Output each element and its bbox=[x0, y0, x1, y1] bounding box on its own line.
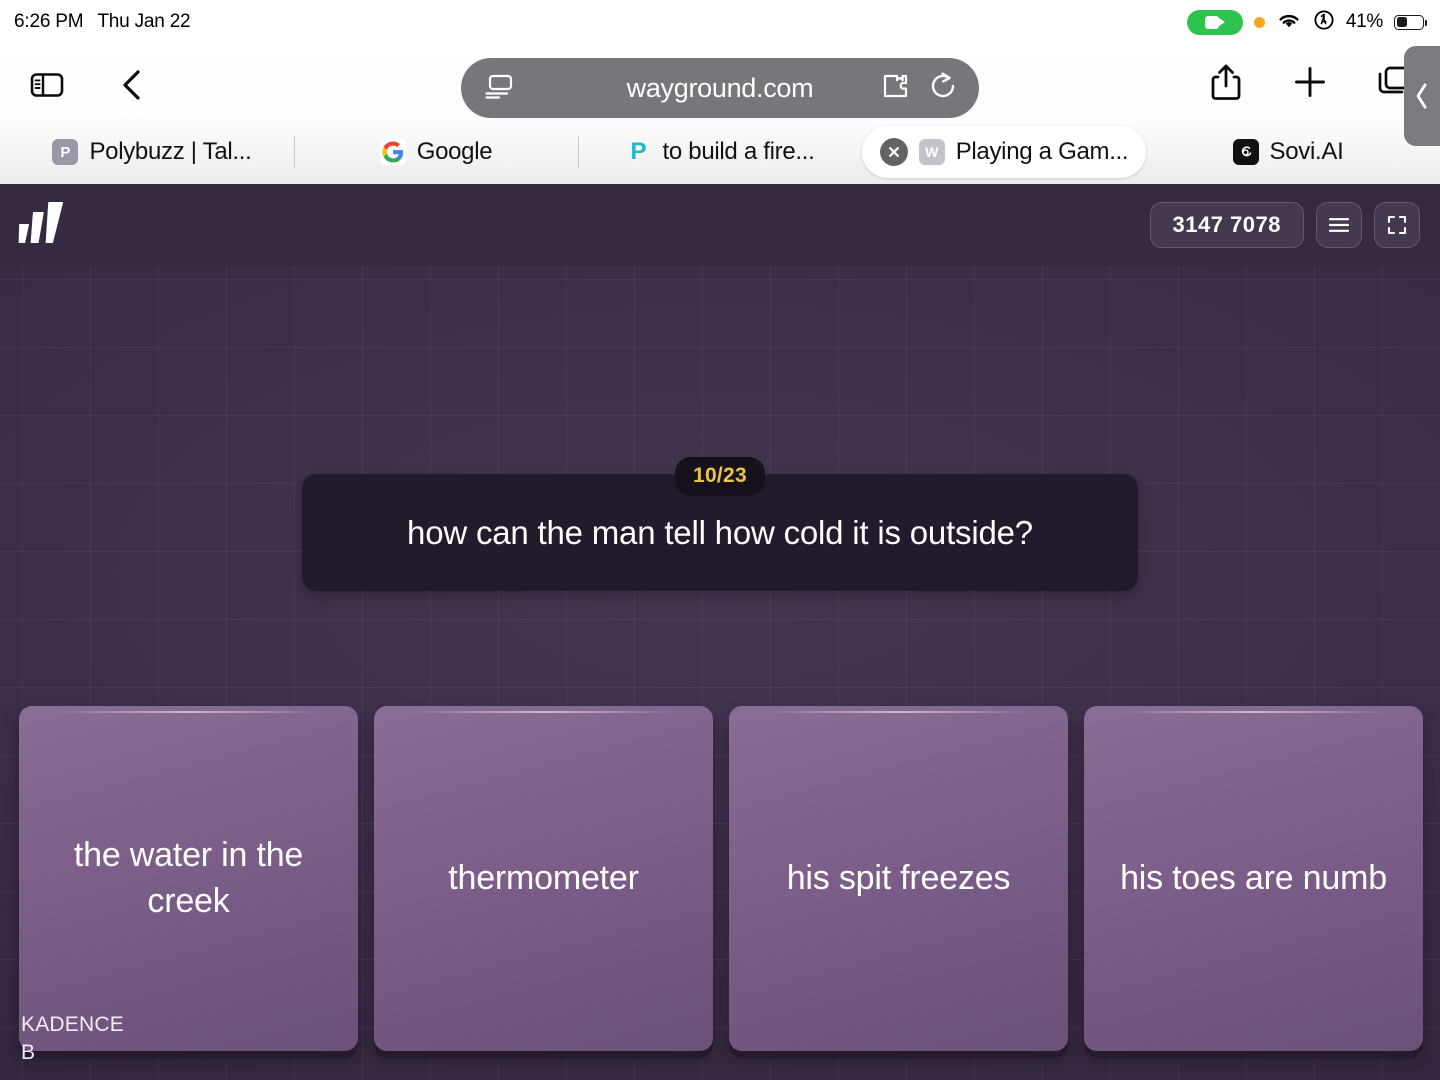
close-tab-button[interactable] bbox=[880, 138, 908, 166]
answer-option-3[interactable]: his spit freezes bbox=[729, 706, 1068, 1051]
menu-button[interactable] bbox=[1316, 202, 1362, 248]
reload-icon[interactable] bbox=[929, 71, 957, 106]
status-time: 6:26 PM bbox=[14, 11, 83, 33]
player-name-line-1: KADENCE bbox=[21, 1011, 124, 1038]
status-bar-right: 41% bbox=[1187, 9, 1424, 36]
browser-tab-sovi-ai[interactable]: Sovi.AI bbox=[1146, 126, 1430, 178]
browser-tab-playing-a-game[interactable]: W Playing a Gam... bbox=[862, 126, 1146, 178]
tab-title: Playing a Gam... bbox=[956, 138, 1129, 166]
answer-option-4[interactable]: his toes are numb bbox=[1084, 706, 1423, 1051]
fullscreen-button[interactable] bbox=[1374, 202, 1420, 248]
app-header: 3147 7078 bbox=[0, 184, 1440, 266]
sidebar-toggle-icon bbox=[30, 71, 64, 104]
game-code-pill[interactable]: 3147 7078 bbox=[1150, 202, 1305, 248]
toolbar-right-actions bbox=[1198, 56, 1422, 112]
fullscreen-icon bbox=[1387, 215, 1407, 235]
browser-toolbar: wayground.com bbox=[0, 44, 1440, 120]
sidebar-toggle-button[interactable] bbox=[16, 56, 78, 118]
tab-bar: P Polybuzz | Tal... Google P to build a … bbox=[0, 120, 1440, 184]
share-button[interactable] bbox=[1198, 56, 1254, 112]
wayground-app: 3147 7078 10/23 how can the bbox=[0, 184, 1440, 1080]
answer-options: the water in the creek thermometer his s… bbox=[19, 706, 1440, 1056]
game-board: 10/23 how can the man tell how cold it i… bbox=[0, 266, 1440, 1080]
answer-option-1[interactable]: the water in the creek bbox=[19, 706, 358, 1051]
app-header-actions: 3147 7078 bbox=[1150, 202, 1421, 248]
answer-label: the water in the creek bbox=[41, 833, 336, 923]
question-text: how can the man tell how cold it is outs… bbox=[407, 514, 1033, 552]
wayground-logo-icon[interactable] bbox=[18, 207, 60, 243]
browser-chrome: wayground.com bbox=[0, 44, 1440, 184]
screen: 6:26 PM Thu Jan 22 bbox=[0, 0, 1440, 1080]
extensions-puzzle-icon[interactable] bbox=[881, 72, 911, 105]
rotation-lock-icon bbox=[1313, 9, 1335, 36]
player-name-line-2: B bbox=[21, 1039, 124, 1066]
question-counter-badge: 10/23 bbox=[675, 457, 765, 496]
battery-icon bbox=[1394, 15, 1424, 30]
orange-privacy-dot-icon bbox=[1254, 17, 1265, 28]
player-name: KADENCE B bbox=[21, 1011, 124, 1066]
tab-title: Polybuzz | Tal... bbox=[89, 138, 251, 166]
tab-title: Google bbox=[417, 138, 493, 166]
chevron-left-icon bbox=[1414, 82, 1430, 110]
status-date: Thu Jan 22 bbox=[97, 11, 190, 33]
answer-label: his toes are numb bbox=[1120, 856, 1387, 901]
browser-tab-to-build-a-fire[interactable]: P to build a fire... bbox=[578, 126, 862, 178]
share-icon bbox=[1210, 63, 1242, 106]
status-bar-left: 6:26 PM Thu Jan 22 bbox=[14, 11, 190, 33]
tab-title: to build a fire... bbox=[662, 138, 814, 166]
battery-percent: 41% bbox=[1346, 11, 1383, 33]
wayground-favicon-icon: W bbox=[919, 139, 945, 165]
camera-recording-icon bbox=[1187, 10, 1243, 35]
browser-tab-google[interactable]: Google bbox=[294, 126, 578, 178]
back-chevron-icon bbox=[119, 69, 145, 106]
tab-title: Sovi.AI bbox=[1270, 138, 1344, 166]
perplexity-favicon-icon: P bbox=[625, 139, 651, 165]
answer-option-2[interactable]: thermometer bbox=[374, 706, 713, 1051]
back-button[interactable] bbox=[101, 56, 163, 118]
answer-label: his spit freezes bbox=[787, 856, 1011, 901]
wifi-icon bbox=[1276, 10, 1302, 35]
plus-icon bbox=[1293, 65, 1327, 104]
reader-view-icon[interactable] bbox=[485, 73, 513, 104]
address-bar[interactable]: wayground.com bbox=[461, 58, 979, 118]
hamburger-menu-icon bbox=[1328, 217, 1350, 233]
side-panel-handle[interactable] bbox=[1404, 46, 1440, 146]
sovi-favicon-icon bbox=[1233, 139, 1259, 165]
answer-label: thermometer bbox=[448, 856, 639, 901]
ios-status-bar: 6:26 PM Thu Jan 22 bbox=[0, 0, 1440, 44]
new-tab-button[interactable] bbox=[1282, 56, 1338, 112]
google-favicon-icon bbox=[380, 139, 406, 165]
polybuzz-favicon-icon: P bbox=[52, 139, 78, 165]
browser-tab-polybuzz[interactable]: P Polybuzz | Tal... bbox=[10, 126, 294, 178]
